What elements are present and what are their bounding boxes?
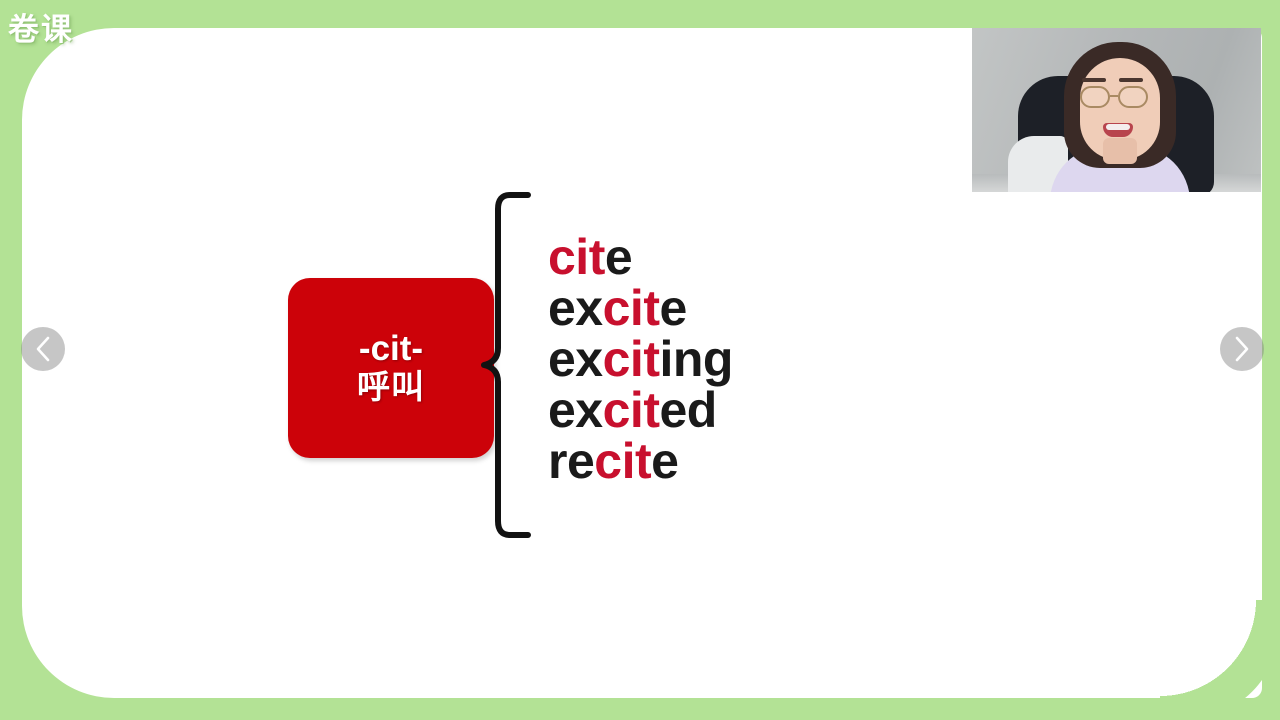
word-root-highlight: cit xyxy=(548,229,605,285)
word-root-highlight: cit xyxy=(603,331,660,387)
webcam-eyeglass-left xyxy=(1080,86,1110,108)
root-latin-text: -cit- xyxy=(359,329,423,368)
word-prefix: ex xyxy=(548,331,603,387)
webcam-presenter-teeth xyxy=(1106,124,1130,130)
word-suffix: ing xyxy=(659,331,732,387)
word-prefix: ex xyxy=(548,382,603,438)
word-prefix: re xyxy=(548,433,594,489)
chevron-right-icon xyxy=(1233,336,1251,362)
word-suffix: ed xyxy=(659,382,716,438)
word-root-highlight: cit xyxy=(603,280,660,336)
chevron-left-icon xyxy=(34,336,52,362)
word-item: cite xyxy=(548,232,733,283)
word-suffix: e xyxy=(659,280,686,336)
curly-brace-connector xyxy=(478,190,534,540)
word-prefix: ex xyxy=(548,280,603,336)
word-root-highlight: cit xyxy=(594,433,651,489)
slide-stage: 卷课 -cit- 呼叫 citeexciteexcitingexcitedrec… xyxy=(0,0,1280,720)
root-chinese-text: 呼叫 xyxy=(357,368,425,407)
word-suffix: e xyxy=(651,433,678,489)
prev-slide-button[interactable] xyxy=(21,327,65,371)
word-item: excited xyxy=(548,385,733,436)
webcam-eyeglass-bridge xyxy=(1110,95,1118,97)
webcam-eyebrow-right xyxy=(1119,78,1143,82)
word-item: excite xyxy=(548,283,733,334)
webcam-presenter-neck xyxy=(1103,138,1137,164)
presenter-webcam-feed[interactable] xyxy=(972,28,1261,192)
word-item: recite xyxy=(548,436,733,487)
word-suffix: e xyxy=(605,229,632,285)
next-slide-button[interactable] xyxy=(1220,327,1264,371)
brand-logo: 卷课 xyxy=(8,4,74,49)
root-word-box: -cit- 呼叫 xyxy=(288,278,494,458)
word-item: exciting xyxy=(548,334,733,385)
word-root-highlight: cit xyxy=(603,382,660,438)
webcam-eyebrow-left xyxy=(1082,78,1106,82)
webcam-eyeglass-right xyxy=(1118,86,1148,108)
derived-word-list: citeexciteexcitingexcitedrecite xyxy=(548,232,733,487)
